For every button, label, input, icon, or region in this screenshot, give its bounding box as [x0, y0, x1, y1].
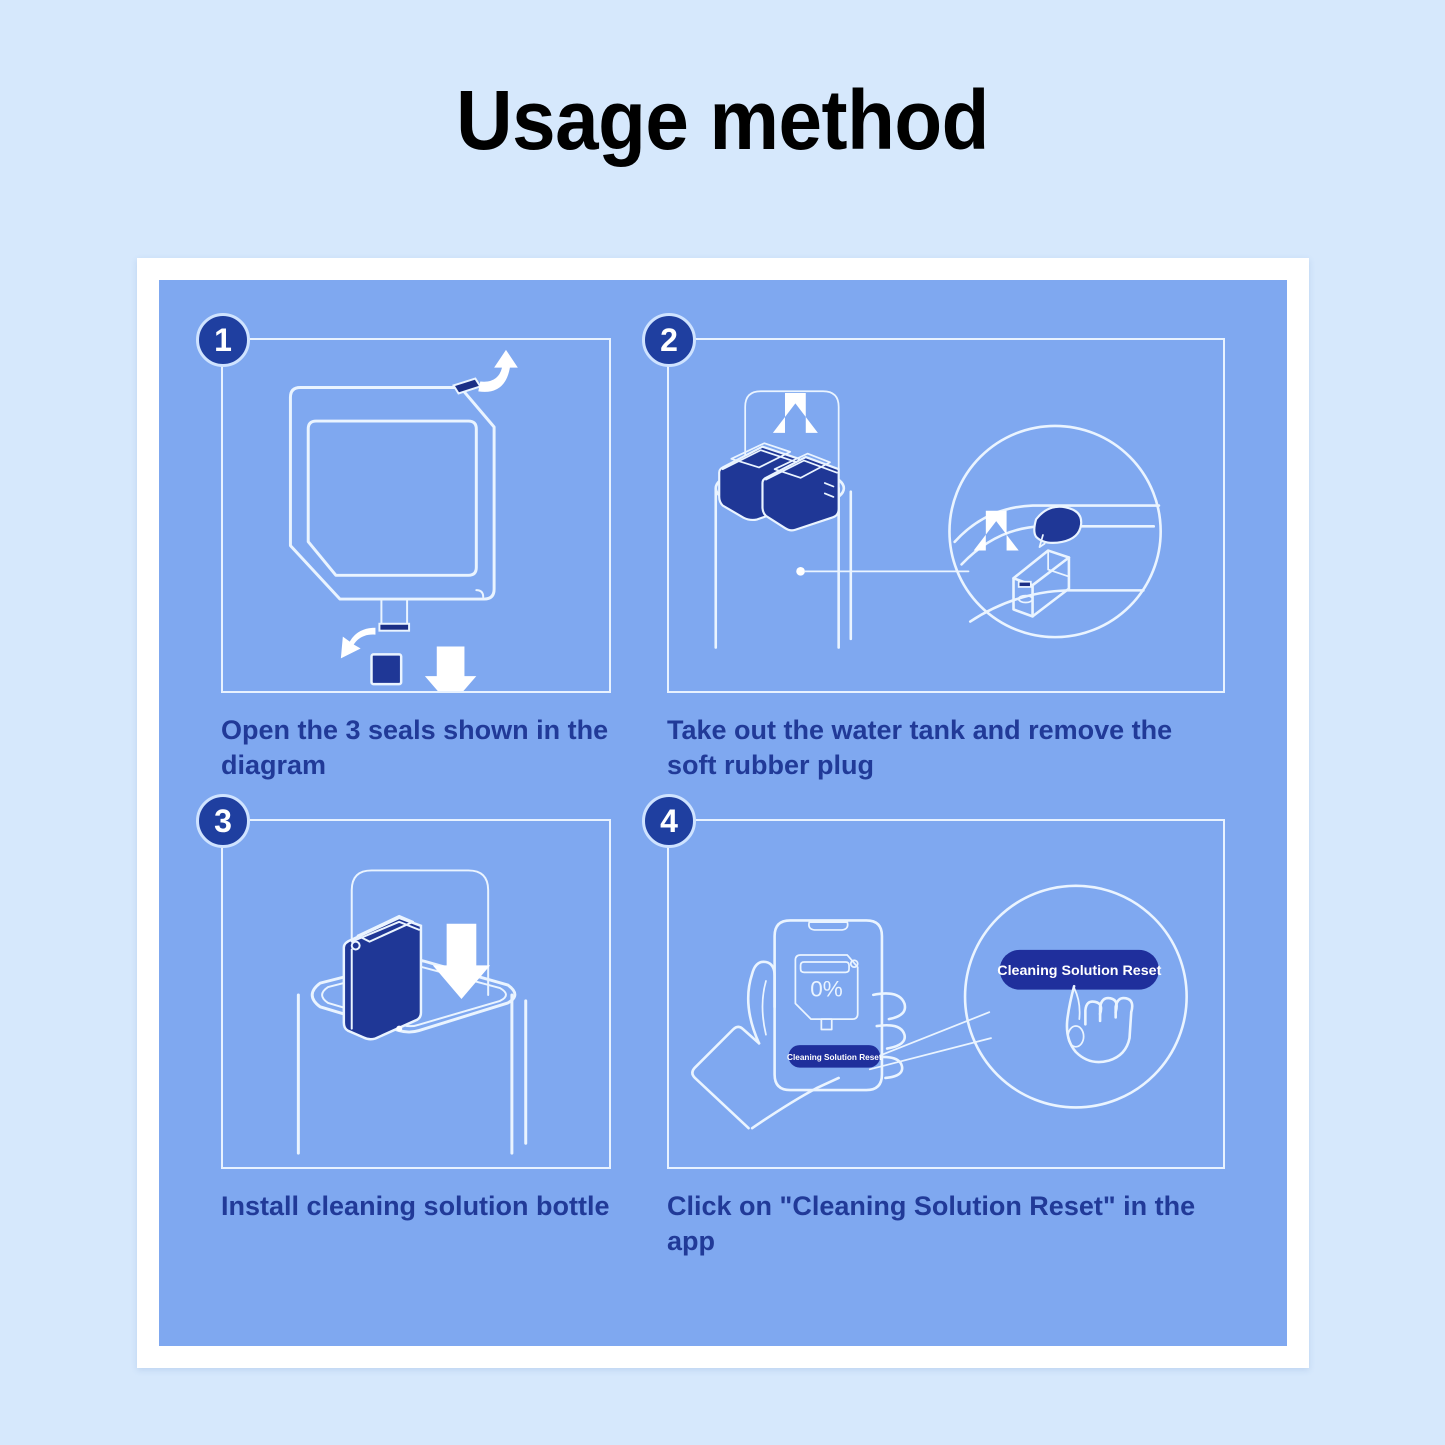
step-1-figure: 1	[221, 338, 611, 693]
step-4-caption: Click on "Cleaning Solution Reset" in th…	[667, 1189, 1225, 1258]
steps-grid: 1	[159, 280, 1287, 1346]
app-tank-percentage: 0%	[810, 977, 843, 1002]
step-4-illustration: 0% Cleaning Solution Reset Cleaning Solu…	[669, 821, 1223, 1167]
step-4-figure: 4	[667, 819, 1225, 1169]
step-3-caption: Install cleaning solution bottle	[221, 1189, 611, 1224]
step-3-illustration	[223, 821, 609, 1167]
magnified-reset-button-label: Cleaning Solution Reset	[997, 963, 1161, 979]
page-title: Usage method	[51, 72, 1395, 169]
step-2-illustration	[669, 340, 1223, 691]
step-3-figure: 3	[221, 819, 611, 1169]
step-2: 2	[667, 338, 1225, 819]
step-1-illustration	[223, 340, 609, 691]
step-2-figure: 2	[667, 338, 1225, 693]
step-4-badge: 4	[642, 794, 696, 848]
step-1-badge: 1	[196, 313, 250, 367]
step-2-badge: 2	[642, 313, 696, 367]
step-2-caption: Take out the water tank and remove the s…	[667, 713, 1225, 782]
step-3: 3	[221, 819, 611, 1300]
step-4: 4	[667, 819, 1225, 1300]
step-1-caption: Open the 3 seals shown in the diagram	[221, 713, 611, 782]
instruction-card-frame: 1	[137, 258, 1309, 1368]
step-1: 1	[221, 338, 611, 819]
instruction-panel: 1	[159, 280, 1287, 1346]
app-reset-button-label: Cleaning Solution Reset	[787, 1053, 882, 1062]
step-3-badge: 3	[196, 794, 250, 848]
